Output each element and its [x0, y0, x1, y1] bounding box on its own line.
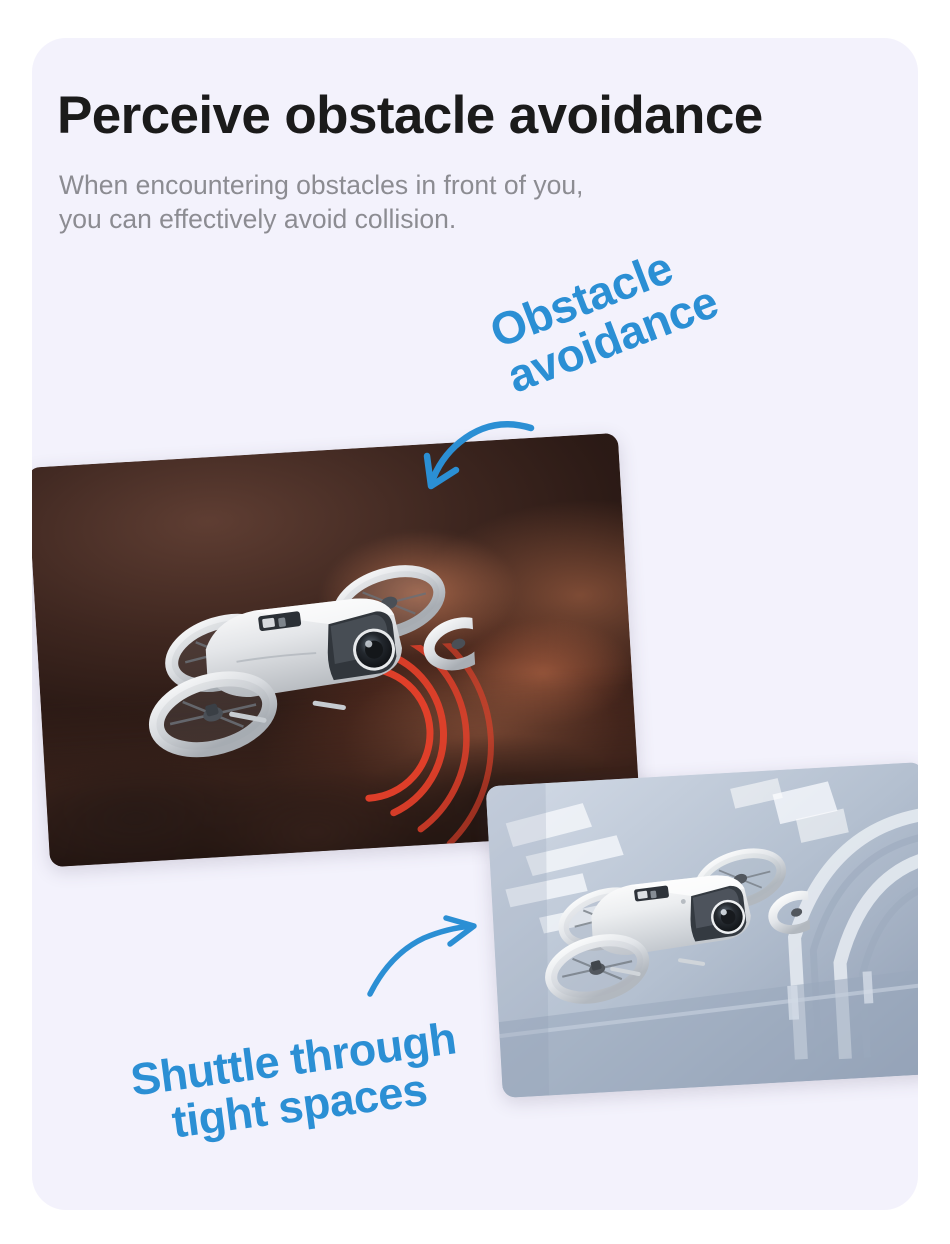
drone-tunnel — [537, 831, 814, 1016]
curved-arrow-down-left-icon — [418, 404, 538, 500]
annotation-tight-spaces: Shuttle through tight spaces — [128, 1015, 465, 1151]
curved-arrow-up-right-icon — [362, 914, 484, 1000]
page-title: Perceive obstacle avoidance — [57, 88, 897, 143]
drone-canyon — [139, 548, 480, 767]
annotation-obstacle-avoidance: Obstacle avoidance — [484, 233, 724, 401]
promo-card: Perceive obstacle avoidance When encount… — [32, 38, 918, 1210]
page-subtitle: When encountering obstacles in front of … — [59, 168, 839, 237]
drone-tunnel-photo — [486, 762, 918, 1098]
